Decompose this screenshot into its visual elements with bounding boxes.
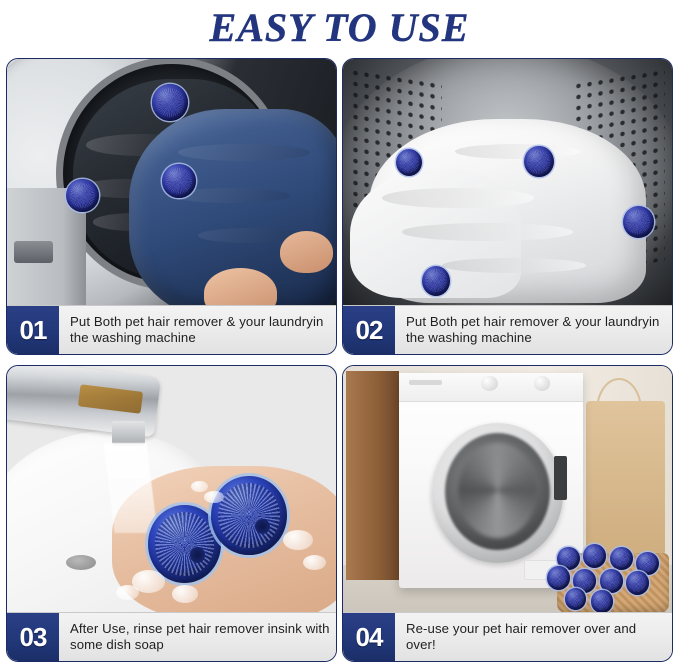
pet-hair-remover-ball xyxy=(547,566,570,590)
step-caption-text-01: Put Both pet hair remover & your laundry… xyxy=(59,306,336,354)
step-caption-02: 02 Put Both pet hair remover & your laun… xyxy=(343,305,672,354)
step-number-badge-02: 02 xyxy=(343,306,395,354)
pet-hair-remover-ball xyxy=(524,146,554,177)
pet-hair-remover-ball xyxy=(148,505,220,582)
step-image-02 xyxy=(343,59,672,308)
step-image-01 xyxy=(7,59,336,308)
step-panel-01[interactable]: 01 Put Both pet hair remover & your laun… xyxy=(6,58,337,355)
pet-hair-remover-ball xyxy=(583,544,606,568)
steps-grid: 01 Put Both pet hair remover & your laun… xyxy=(6,58,673,664)
step-image-04 xyxy=(343,366,672,615)
pet-hair-remover-ball xyxy=(600,569,623,593)
step-caption-text-04: Re-use your pet hair remover over and ov… xyxy=(395,613,672,661)
pet-hair-remover-ball xyxy=(396,149,422,176)
step-panel-04[interactable]: 04 Re-use your pet hair remover over and… xyxy=(342,365,673,662)
pet-hair-remover-ball xyxy=(422,266,450,296)
step-caption-text-02: Put Both pet hair remover & your laundry… xyxy=(395,306,672,354)
step-caption-03: 03 After Use, rinse pet hair remover ins… xyxy=(7,612,336,661)
pet-hair-remover-ball xyxy=(623,206,654,238)
pet-hair-remover-ball xyxy=(152,84,188,121)
step-number-badge-04: 04 xyxy=(343,613,395,661)
step-panel-03[interactable]: 03 After Use, rinse pet hair remover ins… xyxy=(6,365,337,662)
step-number-badge-01: 01 xyxy=(7,306,59,354)
pet-hair-remover-ball xyxy=(626,571,649,595)
step-caption-text-03: After Use, rinse pet hair remover insink… xyxy=(59,613,336,661)
pet-hair-remover-ball xyxy=(610,547,633,571)
page-title: EASY TO USE xyxy=(0,0,679,52)
step-caption-04: 04 Re-use your pet hair remover over and… xyxy=(343,612,672,661)
step-panel-02[interactable]: 02 Put Both pet hair remover & your laun… xyxy=(342,58,673,355)
pet-hair-remover-ball xyxy=(211,476,287,556)
step-caption-01: 01 Put Both pet hair remover & your laun… xyxy=(7,305,336,354)
step-image-03 xyxy=(7,366,336,615)
pet-hair-remover-ball xyxy=(591,590,612,612)
step-number-badge-03: 03 xyxy=(7,613,59,661)
pet-hair-remover-ball xyxy=(66,179,99,213)
